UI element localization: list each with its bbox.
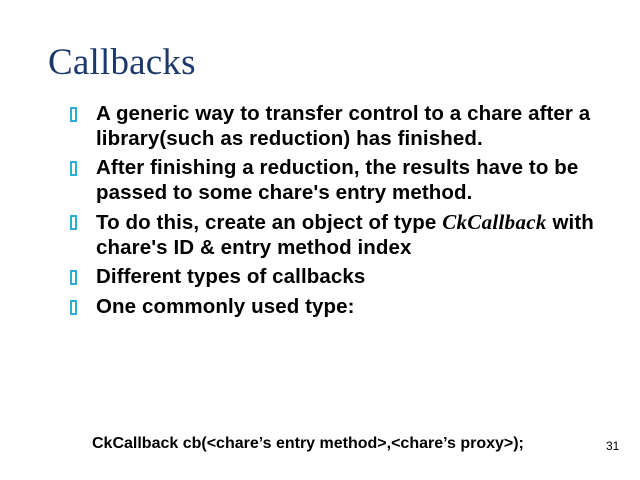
list-item-label: One commonly used type: (96, 295, 355, 318)
list-item-label: After finishing a reduction, the results… (96, 156, 578, 204)
bullet-square-icon (70, 300, 77, 315)
list-item-emphasis-type: CkCallback (442, 210, 547, 234)
list-item: A generic way to transfer control to a c… (0, 102, 640, 151)
code-snippet: CkCallback cb(<chare’s entry method>,<ch… (92, 434, 524, 453)
bullet-square-icon (70, 270, 77, 285)
page-number: 31 (606, 439, 619, 453)
page-title: Callbacks (48, 42, 196, 84)
list-item: To do this, create an object of type CkC… (0, 210, 640, 260)
list-item-label: A generic way to transfer control to a c… (96, 102, 590, 150)
list-item: Different types of callbacks (0, 265, 640, 290)
bullet-list: A generic way to transfer control to a c… (0, 102, 640, 324)
bullet-square-icon (70, 215, 77, 230)
list-item: One commonly used type: (0, 295, 640, 320)
list-item-label: Different types of callbacks (96, 265, 365, 288)
list-item-text-before: To do this, create an object of type (96, 211, 442, 234)
list-item-label: To do this, create an object of type CkC… (96, 211, 594, 259)
list-item: After finishing a reduction, the results… (0, 156, 640, 205)
slide-canvas: Callbacks A generic way to transfer cont… (0, 0, 640, 480)
bullet-square-icon (70, 161, 77, 176)
bullet-square-icon (70, 107, 77, 122)
